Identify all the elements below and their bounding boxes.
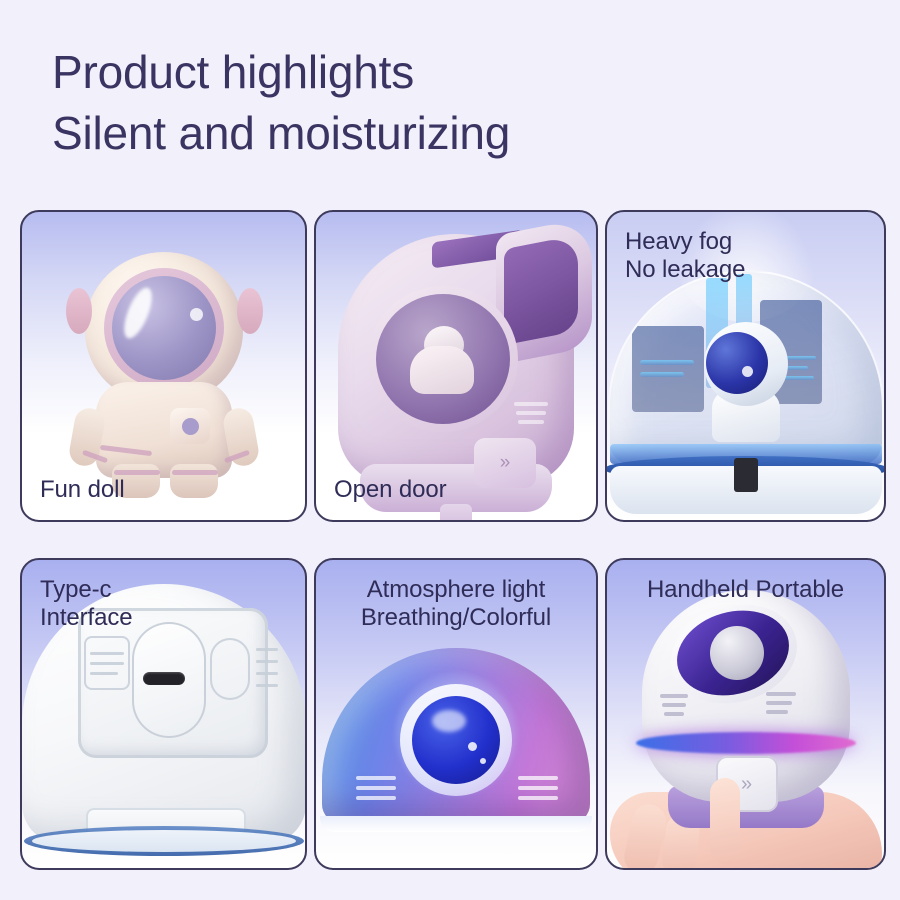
page-title: Product highlights Silent and moisturizi… xyxy=(52,42,852,164)
feature-card-type-c-interface[interactable]: Type-c Interface xyxy=(20,558,307,870)
feature-card-handheld-portable[interactable]: » Handheld Portable xyxy=(605,558,886,870)
feature-card-fun-doll[interactable]: Fun doll xyxy=(20,210,307,522)
open-door-device-illustration: » xyxy=(316,212,596,520)
card-label-fun-doll: Fun doll xyxy=(40,476,125,504)
card-label-type-c-interface: Type-c Interface xyxy=(40,576,133,632)
card-label-atmosphere-light: Atmosphere light Breathing/Colorful xyxy=(316,576,596,632)
usb-c-port xyxy=(143,672,185,685)
device-badge-glyph: » xyxy=(474,438,536,488)
handheld-device-illustration: » xyxy=(607,560,884,868)
card-label-open-door: Open door xyxy=(334,476,447,504)
feature-card-grid: Fun doll » Open door xyxy=(20,210,886,876)
feature-card-heavy-fog[interactable]: Heavy fog No leakage xyxy=(605,210,886,522)
astronaut-doll-illustration xyxy=(22,212,305,520)
product-highlights-page: Product highlights Silent and moisturizi… xyxy=(0,0,900,900)
card-label-heavy-fog: Heavy fog No leakage xyxy=(625,228,745,284)
feature-card-open-door[interactable]: » Open door xyxy=(314,210,598,522)
card-label-handheld-portable: Handheld Portable xyxy=(607,576,884,604)
feature-card-atmosphere-light[interactable]: Atmosphere light Breathing/Colorful xyxy=(314,558,598,870)
